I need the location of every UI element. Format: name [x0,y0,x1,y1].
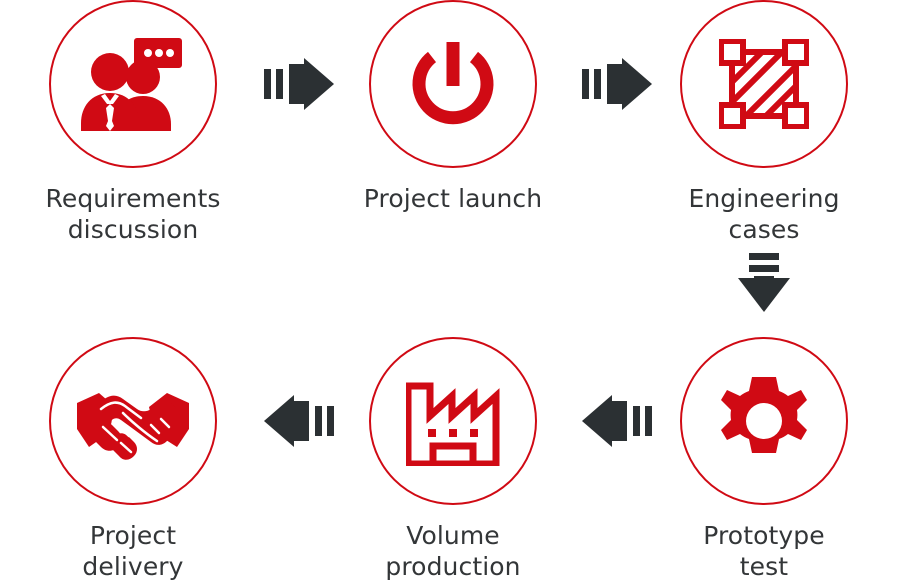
step-project-launch[interactable]: Project launch [338,0,568,215]
step-label: Requirements discussion [18,184,248,245]
step-volume-production[interactable]: Volume production [338,337,568,582]
step-circle[interactable] [49,0,217,168]
arrow-right-icon [262,56,336,112]
step-circle[interactable] [49,337,217,505]
arrow-left-icon [580,393,654,449]
step-label: Project launch [338,184,568,215]
arrow-left-icon [262,393,336,449]
step-label: Volume production [338,521,568,582]
step-requirements-discussion[interactable]: Requirements discussion [18,0,248,245]
power-button-icon [369,0,537,168]
step-engineering-cases[interactable]: Engineering cases [649,0,879,245]
step-label: Prototype test [649,521,879,582]
arrow-right-icon [580,56,654,112]
step-circle[interactable] [369,0,537,168]
gear-icon [680,337,848,505]
handshake-icon [49,337,217,505]
arrow-down-icon [736,252,792,314]
selection-box-icon [680,0,848,168]
step-project-delivery[interactable]: Project delivery [18,337,248,582]
step-label: Project delivery [18,521,248,582]
people-discussion-icon [49,0,217,168]
step-prototype-test[interactable]: Prototype test [649,337,879,582]
process-flow-diagram: Requirements discussion Project launch [0,0,898,570]
step-label: Engineering cases [649,184,879,245]
step-circle[interactable] [369,337,537,505]
step-circle[interactable] [680,337,848,505]
step-circle[interactable] [680,0,848,168]
factory-icon [369,337,537,505]
